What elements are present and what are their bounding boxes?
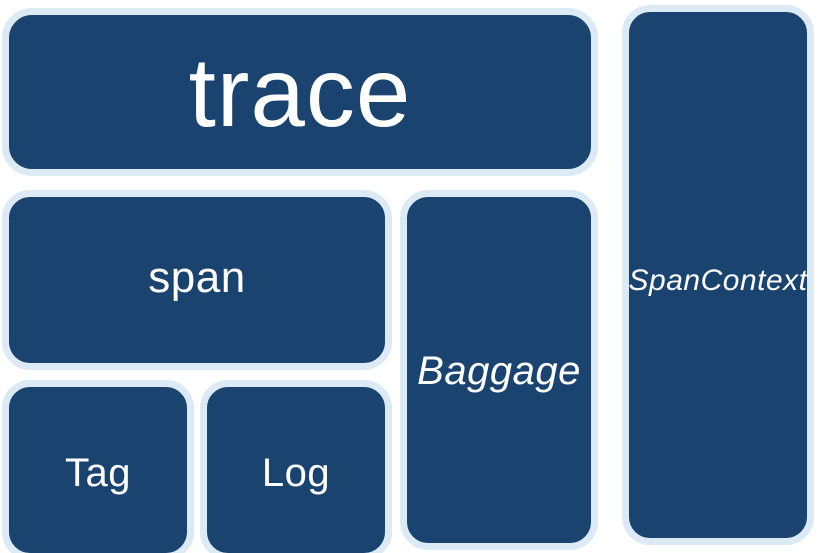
- node-span-label: span: [148, 256, 245, 300]
- node-spancontext-label: SpanContext: [629, 266, 808, 296]
- node-trace-label: trace: [189, 43, 412, 141]
- node-baggage[interactable]: Baggage: [400, 190, 598, 550]
- node-spancontext[interactable]: SpanContext: [622, 5, 814, 545]
- node-trace[interactable]: trace: [2, 8, 598, 176]
- node-span[interactable]: span: [2, 190, 392, 370]
- node-tag-label: Tag: [65, 453, 131, 493]
- node-log-label: Log: [262, 453, 330, 493]
- node-baggage-label: Baggage: [417, 351, 581, 391]
- node-tag[interactable]: Tag: [2, 380, 194, 553]
- diagram-canvas: trace span Tag Log Baggage SpanContext: [0, 0, 820, 553]
- node-log[interactable]: Log: [200, 380, 392, 553]
